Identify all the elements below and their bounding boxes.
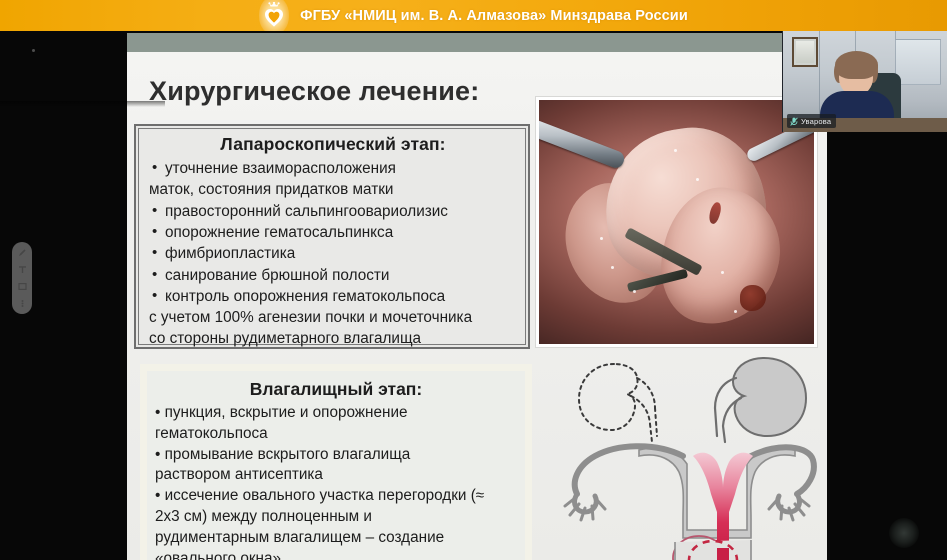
wall-picture-frame <box>792 37 818 67</box>
pencil-icon[interactable] <box>16 247 28 258</box>
kidney-outline <box>733 358 806 436</box>
list-item: «овального окна» <box>155 549 517 560</box>
more-icon[interactable] <box>16 298 28 309</box>
annotation-toolbar[interactable] <box>12 242 32 314</box>
list-item: рудиментарным влагалищем – создание <box>155 528 517 549</box>
bullet-icon: • <box>152 265 157 285</box>
heart-crown-logo-icon <box>259 0 289 31</box>
trailing-line: с учетом 100% агенезии почки и мочеточни… <box>149 308 517 328</box>
slide-top-band <box>127 33 827 52</box>
laparoscopic-stage-heading: Лапароскопический этап: <box>149 134 517 155</box>
uterus-kidney-anatomy-diagram <box>551 352 819 560</box>
vaginal-canal <box>717 548 729 560</box>
list-item-label: санирование брюшной полости <box>165 267 389 284</box>
list-item: •санирование брюшной полости <box>149 266 517 286</box>
pip-shadow <box>0 101 165 107</box>
slide-content: Хирургическое лечение: Лапароскопический… <box>127 33 827 560</box>
bullet-icon: • <box>152 201 157 221</box>
vagina-outline <box>675 540 751 560</box>
vaginal-stage-heading: Влагалищный этап: <box>155 379 517 400</box>
brand-title: ФГБУ «НМИЦ им. В. А. Алмазова» Минздрава… <box>300 8 688 24</box>
list-item: •фимбриопластика <box>149 244 517 264</box>
list-item: гематокольпоса <box>155 424 517 445</box>
list-item: •контроль опорожнения гематокольпоса <box>149 287 517 307</box>
camera-indicator-dot <box>32 49 35 52</box>
list-item-label: маток, состояния придатков матки <box>149 181 393 198</box>
vaginal-stage-box: Влагалищный этап: • пункция, вскрытие и … <box>140 364 532 560</box>
surgical-instrument-left <box>539 115 626 170</box>
list-item: • пункция, вскрытие и опорожнение <box>155 403 517 424</box>
meeting-screenshare-window: ФГБУ «НМИЦ им. В. А. Алмазова» Минздрава… <box>0 0 947 560</box>
text-icon[interactable] <box>16 264 28 275</box>
bullet-icon: • <box>152 158 157 178</box>
bullet-icon: • <box>152 286 157 306</box>
list-item: маток, состояния придатков матки <box>149 180 517 200</box>
shape-icon[interactable] <box>16 281 28 292</box>
participant-name: Уварова <box>801 117 831 126</box>
microphone-muted-icon <box>790 117 798 126</box>
laparoscopic-surgery-photo <box>536 97 817 347</box>
list-item: •правосторонний сальпингоовариолизис <box>149 202 517 222</box>
list-item-label: контроль опорожнения гематокольпоса <box>165 288 445 305</box>
list-item: • иссечение овального участка перегородк… <box>155 486 517 507</box>
bullet-icon: • <box>152 243 157 263</box>
slide-title: Хирургическое лечение: <box>149 76 479 107</box>
brand-header-bar: ФГБУ «НМИЦ им. В. А. Алмазова» Минздрава… <box>0 0 947 31</box>
bullet-icon: • <box>152 222 157 242</box>
corner-glow <box>889 518 919 548</box>
laparoscopic-bullet-list: •уточнение взаиморасположения маток, сос… <box>149 159 517 307</box>
office-window <box>895 39 941 85</box>
list-item: 2х3 см) между полноценным и <box>155 507 517 528</box>
agenesis-kidney-dashed <box>579 364 657 442</box>
slide-body: Хирургическое лечение: Лапароскопический… <box>127 52 827 560</box>
list-item: •опорожнение гематосальпинкса <box>149 223 517 243</box>
laparoscopic-stage-box: Лапароскопический этап: •уточнение взаим… <box>134 124 530 349</box>
list-item: •уточнение взаиморасположения <box>149 159 517 179</box>
trailing-line: со стороны рудиметарного влагалища <box>149 329 517 349</box>
list-item-label: фимбриопластика <box>165 245 295 262</box>
list-item: раствором антисептика <box>155 465 517 486</box>
list-item-label: уточнение взаиморасположения <box>165 160 396 177</box>
list-item: • промывание вскрытого влагалища <box>155 445 517 466</box>
list-item-label: опорожнение гематосальпинкса <box>165 224 393 241</box>
participant-name-badge: Уварова <box>787 114 836 128</box>
list-item-label: правосторонний сальпингоовариолизис <box>165 203 448 220</box>
participant-video-tile[interactable]: Уварова <box>782 31 947 132</box>
